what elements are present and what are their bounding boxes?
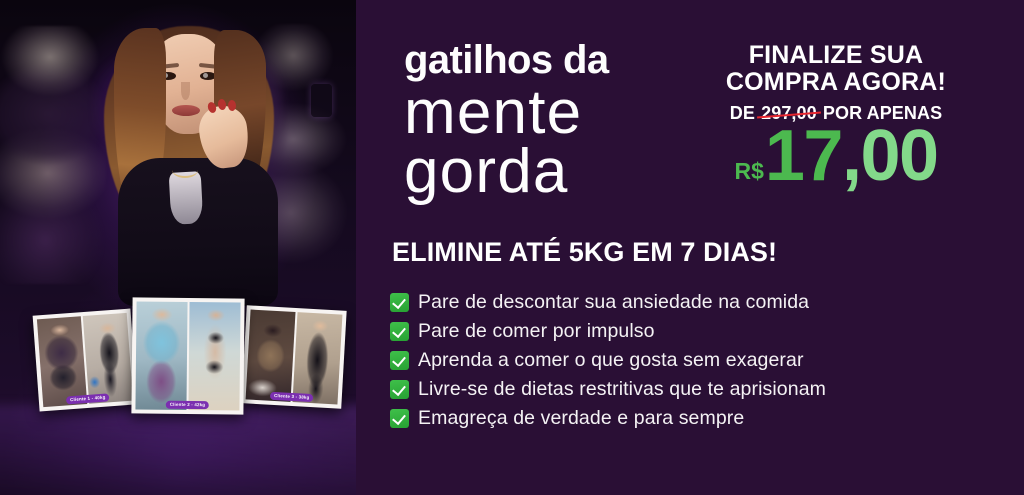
benefit-label: Pare de comer por impulso (418, 320, 655, 343)
check-icon (390, 293, 409, 312)
benefit-item: Pare de comer por impulso (390, 317, 826, 346)
title-line-3: gorda (404, 143, 609, 200)
testimonial-badge: Cliente 2 - 42kg (166, 401, 209, 409)
check-icon (390, 351, 409, 370)
offer-price-block: FINALIZE SUA COMPRA AGORA! DE 297,00 POR… (686, 42, 986, 188)
benefit-label: Aprenda a comer o que gosta sem exagerar (418, 349, 804, 372)
hero-model-portrait (96, 10, 282, 300)
model-necklace (172, 162, 198, 178)
benefit-item: Pare de descontar sua ansiedade na comid… (390, 288, 826, 317)
after-photo (292, 312, 342, 404)
title-line-1: gatilhos da (404, 40, 609, 80)
benefit-item: Livre-se de dietas restritivas que te ap… (390, 375, 826, 404)
benefit-label: Emagreça de verdade e para sempre (418, 407, 744, 430)
benefit-label: Livre-se de dietas restritivas que te ap… (418, 378, 826, 401)
testimonial-collage: Cliente 1 - 40kg Cliente 2 - 42kg Client… (24, 296, 346, 420)
after-photo (188, 302, 240, 411)
before-photo (246, 310, 296, 402)
check-icon (390, 322, 409, 341)
cta-headline-line-1: FINALIZE SUA (686, 42, 986, 69)
from-prefix-label: DE (730, 103, 755, 123)
check-icon (390, 380, 409, 399)
price-main: 17 (765, 126, 842, 188)
title-line-2: mente (404, 84, 609, 141)
benefit-item: Aprenda a comer o que gosta sem exagerar (390, 346, 826, 375)
model-eye-highlight-right (203, 73, 208, 78)
after-photo (83, 313, 133, 404)
model-nose (181, 82, 190, 100)
before-photo (37, 316, 87, 407)
currency-symbol: R$ (734, 162, 763, 182)
model-lips (172, 105, 200, 116)
product-title: gatilhos da mente gorda (404, 40, 609, 200)
promo-headline: ELIMINE ATÉ 5KG EM 7 DIAS! (392, 237, 777, 268)
phone-icon (311, 84, 332, 117)
price-cents: ,00 (842, 126, 938, 188)
before-photo (135, 301, 187, 410)
benefit-label: Pare de descontar sua ansiedade na comid… (418, 291, 809, 314)
testimonial-card[interactable]: Cliente 1 - 40kg (33, 309, 138, 412)
check-icon (390, 409, 409, 428)
cta-headline-line-2: COMPRA AGORA! (686, 69, 986, 96)
current-price: R$ 17 ,00 (686, 126, 986, 188)
benefit-item: Emagreça de verdade e para sempre (390, 404, 826, 433)
old-price-struck: 297,00 (760, 103, 818, 124)
before-silhouette-left (0, 26, 106, 284)
promo-banner: Cliente 1 - 40kg Cliente 2 - 42kg Client… (0, 0, 1024, 495)
model-white-shirt (169, 171, 204, 225)
hero-image-panel: Cliente 1 - 40kg Cliente 2 - 42kg Client… (0, 0, 356, 495)
testimonial-card[interactable]: Cliente 2 - 42kg (131, 297, 244, 414)
testimonial-card[interactable]: Cliente 3 - 38kg (241, 305, 346, 408)
benefits-list: Pare de descontar sua ansiedade na comid… (390, 288, 826, 433)
